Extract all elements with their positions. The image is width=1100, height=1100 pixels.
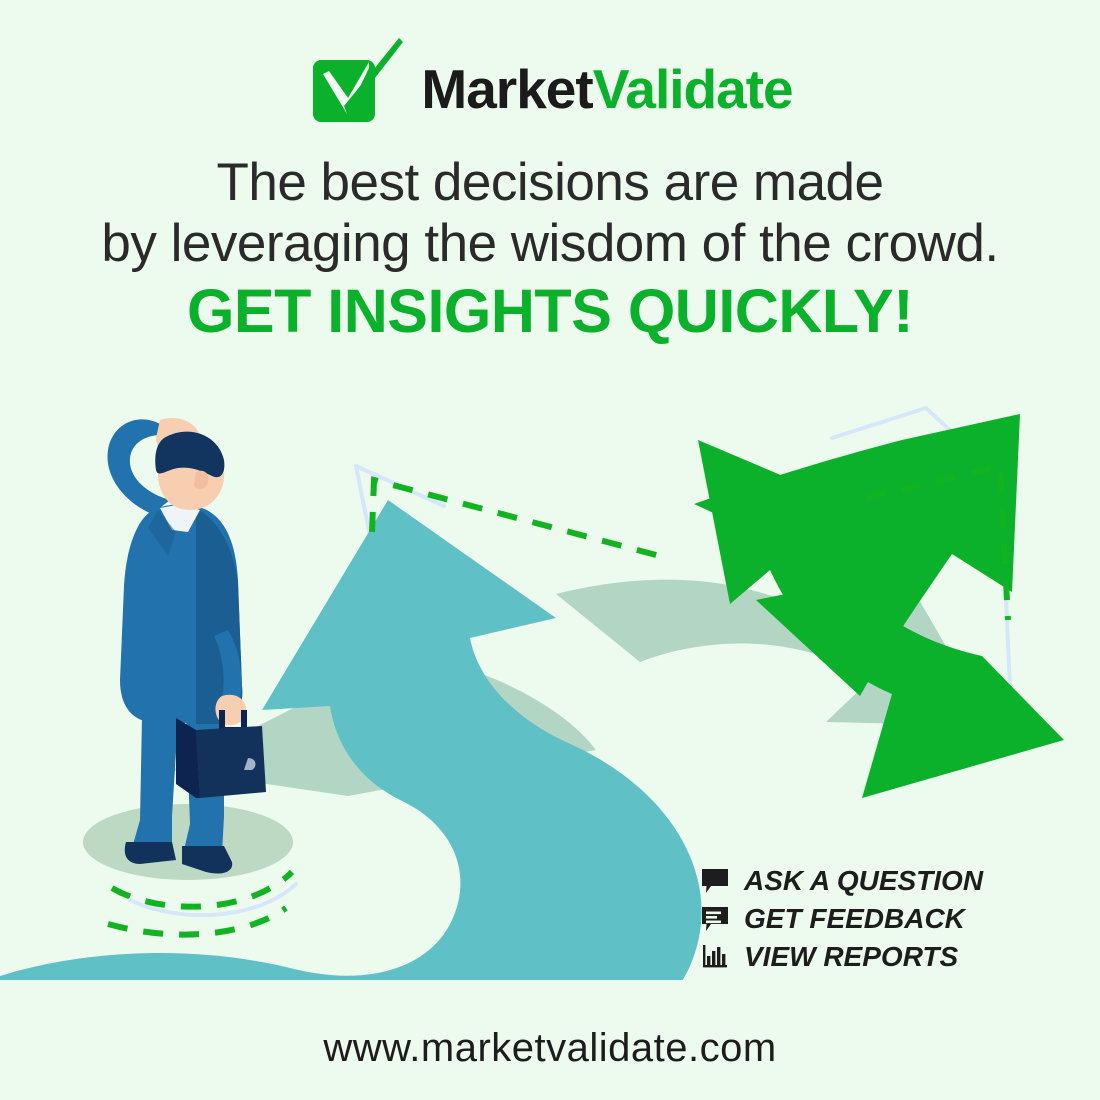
- briefcase-side: [176, 718, 196, 798]
- dashed-accent-ground: [108, 908, 286, 935]
- feature-list: ASK A QUESTION GET FEEDBACK: [700, 862, 1030, 976]
- brand-wordmark: MarketValidate: [421, 62, 792, 117]
- feature-label: VIEW REPORTS: [744, 941, 958, 973]
- promo-poster: MarketValidate The best decisions are ma…: [0, 0, 1100, 1100]
- website-url[interactable]: www.marketvalidate.com: [0, 1026, 1100, 1071]
- leg-back: [132, 716, 178, 852]
- green-check-box-icon: [307, 38, 403, 134]
- shoe-back: [125, 842, 176, 864]
- bar-chart-icon: [700, 943, 730, 971]
- feature-label: ASK A QUESTION: [744, 865, 983, 897]
- headline-line-2: by leveraging the wisdom of the crowd.: [0, 213, 1100, 274]
- feature-item-view-reports[interactable]: VIEW REPORTS: [700, 938, 1030, 976]
- subheadline: GET INSIGHTS QUICKLY!: [0, 281, 1100, 342]
- teal-arrow-shape: [0, 500, 702, 980]
- feature-label: GET FEEDBACK: [744, 903, 965, 935]
- thin-ground-arc: [130, 884, 296, 915]
- feature-item-get-feedback[interactable]: GET FEEDBACK: [700, 900, 1030, 938]
- person-group: [83, 418, 296, 915]
- headline: The best decisions are made by leveragin…: [0, 152, 1100, 275]
- feature-item-ask-a-question[interactable]: ASK A QUESTION: [700, 862, 1030, 900]
- speech-bubble-icon: [700, 867, 730, 895]
- brand-logo: MarketValidate: [0, 38, 1100, 134]
- briefcase-back: [196, 726, 266, 798]
- feedback-bubble-icon: [700, 905, 730, 933]
- headline-line-1: The best decisions are made: [0, 152, 1100, 213]
- brand-name-part1: Market: [421, 58, 592, 120]
- brand-name-part2: Validate: [593, 58, 793, 120]
